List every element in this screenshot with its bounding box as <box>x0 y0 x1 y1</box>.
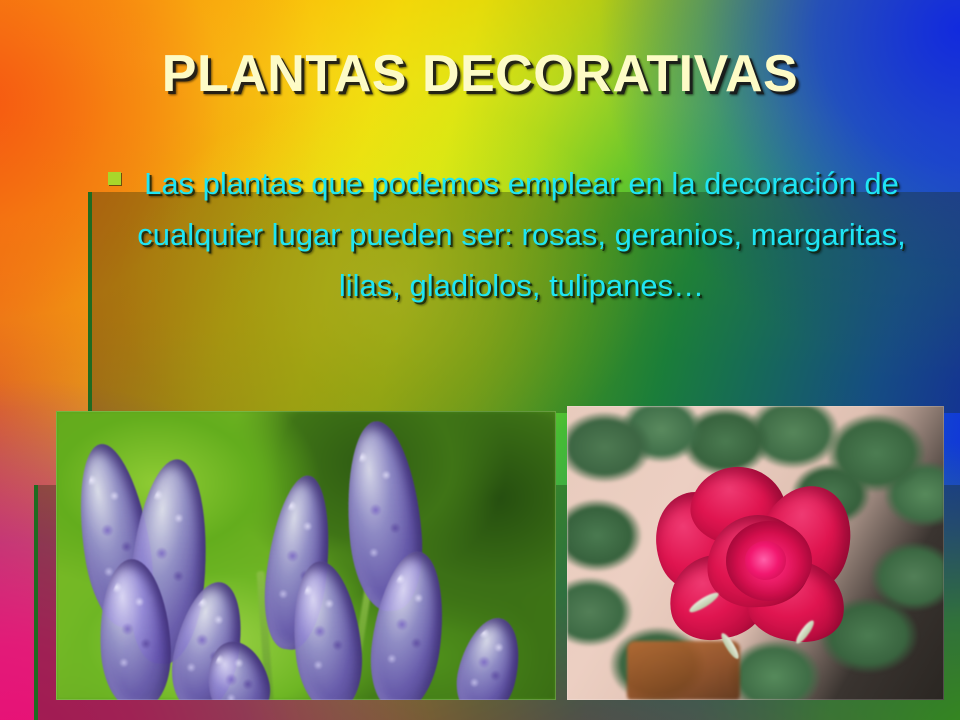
slide-title: PLANTAS DECORATIVAS <box>0 44 960 104</box>
bullet-list-item: Las plantas que podemos emplear en la de… <box>108 158 908 311</box>
image-salvia-flowers <box>56 411 556 700</box>
rose-center <box>726 521 812 601</box>
body-paragraph: Las plantas que podemos emplear en la de… <box>135 158 908 311</box>
square-bullet-icon <box>108 172 121 185</box>
image-red-rose <box>567 406 944 700</box>
presentation-slide: PLANTAS DECORATIVAS Las plantas que pode… <box>0 0 960 720</box>
rose-bloom <box>651 463 861 643</box>
slide-body: Las plantas que podemos emplear en la de… <box>108 158 908 311</box>
flower-pot <box>627 641 740 700</box>
